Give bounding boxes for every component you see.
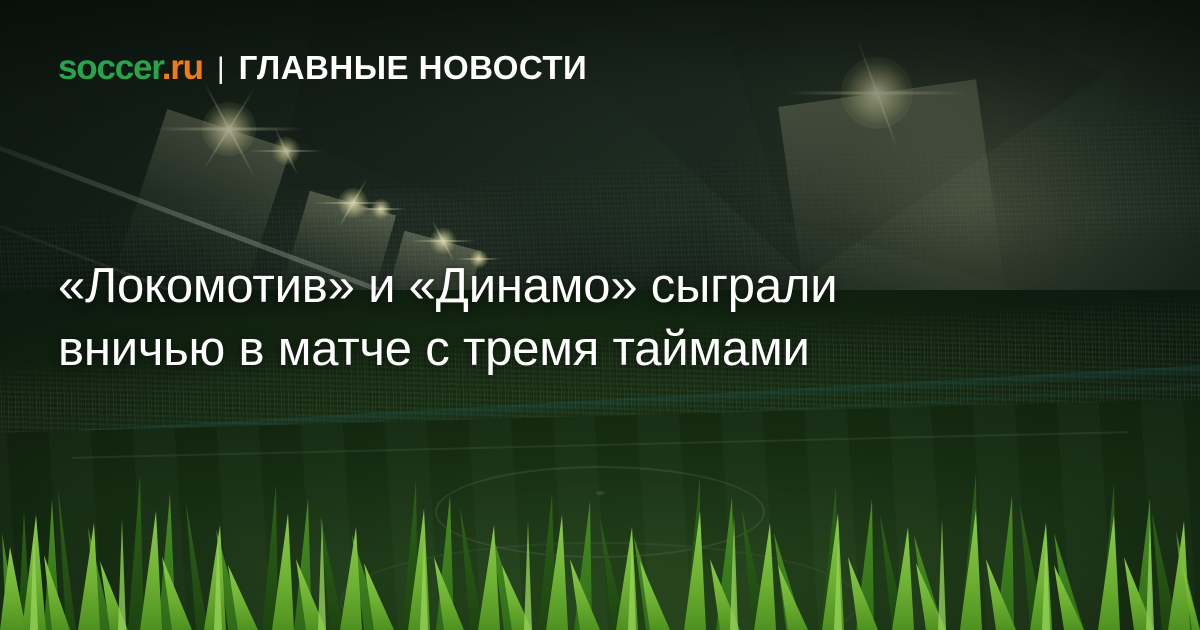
page-title: «Локомотив» и «Динамо» сыграли вничью в … [58,255,1078,381]
soccer-ru-logo[interactable]: soccer.ru [58,50,203,85]
banner-header: soccer.ru | ГЛАВНЫЕ НОВОСТИ [58,50,587,85]
logo-text-tld: .ru [162,48,203,87]
headline-line-1: «Локомотив» и «Динамо» сыграли [58,255,1078,318]
news-banner: soccer.ru | ГЛАВНЫЕ НОВОСТИ «Локомотив» … [0,0,1200,630]
section-title: ГЛАВНЫЕ НОВОСТИ [239,51,588,84]
banner-content: soccer.ru | ГЛАВНЫЕ НОВОСТИ «Локомотив» … [0,0,1200,630]
logo-text-main: soccer [58,48,162,87]
header-separator: | [217,54,225,84]
headline-line-2: вничью в матче с тремя таймами [58,318,1078,381]
